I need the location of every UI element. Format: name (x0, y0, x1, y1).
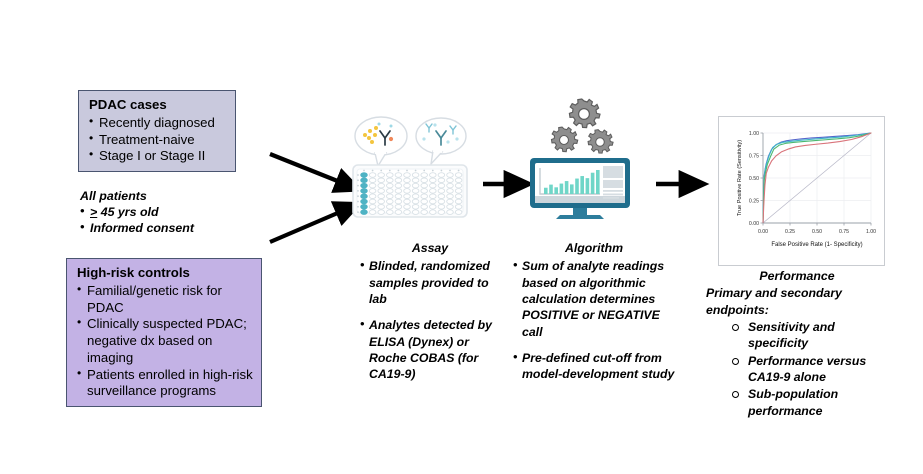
list-item: Blinded, randomized samples provided to … (360, 258, 500, 307)
monitor-icon (530, 158, 630, 219)
svg-text:0.25: 0.25 (749, 198, 759, 204)
all-patients-block: All patients > 45 yrs old Informed conse… (80, 188, 250, 236)
performance-lead: Primary and secondary endpoints: (706, 285, 888, 318)
svg-text:False Positive Rate (1- Specif: False Positive Rate (1- Specificity) (771, 242, 862, 248)
list-item-text: 45 yrs old (97, 205, 158, 219)
list-item: Clinically suspected PDAC; negative dx b… (77, 316, 253, 366)
arrow-assay-to-algorithm (482, 175, 520, 193)
svg-text:1.00: 1.00 (866, 229, 876, 235)
workflow-diagram: PDAC cases Recently diagnosed Treatment-… (0, 0, 923, 474)
svg-text:0.00: 0.00 (758, 229, 768, 235)
assay-column: Assay Blinded, randomized samples provid… (360, 240, 500, 383)
list-item: Performance versus CA19-9 alone (732, 353, 888, 386)
list-item: Informed consent (80, 220, 250, 236)
list-item: Sensitivity and specificity (732, 319, 888, 352)
svg-text:0.50: 0.50 (812, 229, 822, 235)
svg-text:True Positive Rate (Sensitivit: True Positive Rate (Sensitivity) (737, 140, 743, 216)
list-item: Sub-population performance (732, 386, 888, 419)
svg-text:0.00: 0.00 (749, 221, 759, 227)
all-patients-list: > 45 yrs old Informed consent (80, 204, 250, 236)
performance-title: Performance (706, 268, 888, 284)
assay-list: Blinded, randomized samples provided to … (360, 258, 500, 382)
algorithm-title: Algorithm (513, 240, 675, 256)
svg-text:0.50: 0.50 (749, 176, 759, 182)
svg-text:0.75: 0.75 (749, 153, 759, 159)
all-patients-title: All patients (80, 188, 250, 204)
list-item: Pre-defined cut-off from model-developme… (513, 350, 675, 383)
list-item: Familial/genetic risk for PDAC (77, 283, 253, 317)
plate-wells (345, 112, 473, 220)
high-risk-controls-box: High-risk controls Familial/genetic risk… (66, 258, 262, 407)
arrow-algorithm-to-performance (655, 175, 695, 193)
roc-chart-svg: 0.000.250.500.751.000.000.250.500.751.00… (719, 117, 882, 263)
gears-icon (551, 99, 613, 153)
list-item: > 45 yrs old (80, 204, 250, 220)
roc-chart: 0.000.250.500.751.000.000.250.500.751.00… (718, 116, 885, 266)
pdac-cases-box: PDAC cases Recently diagnosed Treatment-… (78, 90, 236, 172)
list-item: Patients enrolled in high-risk surveilla… (77, 367, 253, 401)
list-item: Sum of analyte readings based on algorit… (513, 258, 675, 340)
svg-text:0.25: 0.25 (785, 229, 795, 235)
algorithm-list: Sum of analyte readings based on algorit… (513, 258, 675, 382)
high-risk-controls-title: High-risk controls (77, 265, 253, 282)
svg-text:0.75: 0.75 (839, 229, 849, 235)
list-item: Analytes detected by ELISA (Dynex) or Ro… (360, 317, 500, 382)
performance-list: Sensitivity and specificity Performance … (706, 319, 888, 419)
algorithm-column: Algorithm Sum of analyte readings based … (513, 240, 675, 383)
assay-title: Assay (360, 240, 500, 256)
performance-column: Performance Primary and secondary endpoi… (706, 268, 888, 420)
pdac-cases-list: Recently diagnosed Treatment-naive Stage… (89, 115, 227, 165)
high-risk-controls-list: Familial/genetic risk for PDAC Clinicall… (77, 283, 253, 400)
list-item: Stage I or Stage II (89, 148, 227, 165)
list-item: Recently diagnosed (89, 115, 227, 132)
pdac-cases-title: PDAC cases (89, 97, 227, 114)
svg-text:1.00: 1.00 (749, 131, 759, 137)
algorithm-computer-graphic (520, 92, 640, 220)
list-item: Treatment-naive (89, 132, 227, 149)
